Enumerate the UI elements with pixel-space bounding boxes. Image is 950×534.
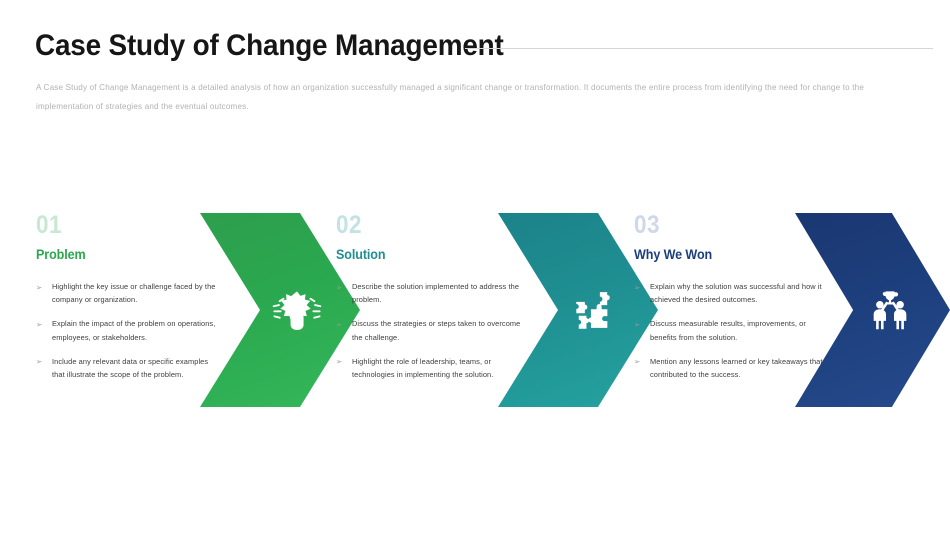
step-3-bullet-list: ➢ Explain why the solution was successfu…	[634, 280, 826, 381]
bullet-arrow-icon: ➢	[634, 355, 640, 368]
page-subtitle: A Case Study of Change Management is a d…	[36, 78, 916, 116]
step-column-3: 03 Why We Won ➢ Explain why the solution…	[634, 212, 826, 392]
list-item: ➢ Describe the solution implemented to a…	[336, 280, 521, 306]
list-item: ➢ Discuss measurable results, improvemen…	[634, 317, 826, 343]
list-item-text: Explain why the solution was successful …	[650, 282, 822, 304]
list-item: ➢ Highlight the role of leadership, team…	[336, 355, 521, 381]
list-item-text: Explain the impact of the problem on ope…	[52, 319, 215, 341]
bullet-arrow-icon: ➢	[336, 281, 342, 294]
title-divider-rule	[465, 48, 933, 49]
step-1-number: 01	[36, 212, 203, 238]
page-title: Case Study of Change Management	[35, 28, 504, 64]
step-column-1: 01 Problem ➢ Highlight the key issue or …	[36, 212, 221, 392]
list-item-text: Highlight the key issue or challenge fac…	[52, 282, 215, 304]
bullet-arrow-icon: ➢	[634, 281, 640, 294]
puzzle-pieces-icon	[569, 284, 621, 336]
list-item-text: Discuss the strategies or steps taken to…	[352, 319, 520, 341]
step-3-title: Why We Won	[634, 247, 813, 263]
list-item-text: Discuss measurable results, improvements…	[650, 319, 806, 341]
step-1-bullet-list: ➢ Highlight the key issue or challenge f…	[36, 280, 221, 381]
team-trophy-icon	[864, 284, 916, 336]
list-item-text: Include any relevant data or specific ex…	[52, 357, 208, 379]
bullet-arrow-icon: ➢	[634, 318, 640, 331]
list-item: ➢ Include any relevant data or specific …	[36, 355, 221, 381]
step-3-number: 03	[634, 212, 807, 238]
hand-holding-burst-icon	[271, 284, 323, 336]
step-2-bullet-list: ➢ Describe the solution implemented to a…	[336, 280, 521, 381]
bullet-arrow-icon: ➢	[36, 318, 42, 331]
list-item: ➢ Discuss the strategies or steps taken …	[336, 317, 521, 343]
list-item-text: Mention any lessons learned or key takea…	[650, 357, 823, 379]
list-item-text: Describe the solution implemented to add…	[352, 282, 519, 304]
bullet-arrow-icon: ➢	[336, 318, 342, 331]
list-item: ➢ Explain the impact of the problem on o…	[36, 317, 221, 343]
step-column-2: 02 Solution ➢ Describe the solution impl…	[336, 212, 521, 392]
slide-canvas: Case Study of Change Management A Case S…	[0, 0, 950, 534]
bullet-arrow-icon: ➢	[36, 355, 42, 368]
bullet-arrow-icon: ➢	[336, 355, 342, 368]
step-2-number: 02	[336, 212, 503, 238]
step-2-title: Solution	[336, 247, 508, 263]
step-1-title: Problem	[36, 247, 208, 263]
list-item: ➢ Highlight the key issue or challenge f…	[36, 280, 221, 306]
list-item: ➢ Mention any lessons learned or key tak…	[634, 355, 826, 381]
list-item: ➢ Explain why the solution was successfu…	[634, 280, 826, 306]
list-item-text: Highlight the role of leadership, teams,…	[352, 357, 493, 379]
bullet-arrow-icon: ➢	[36, 281, 42, 294]
